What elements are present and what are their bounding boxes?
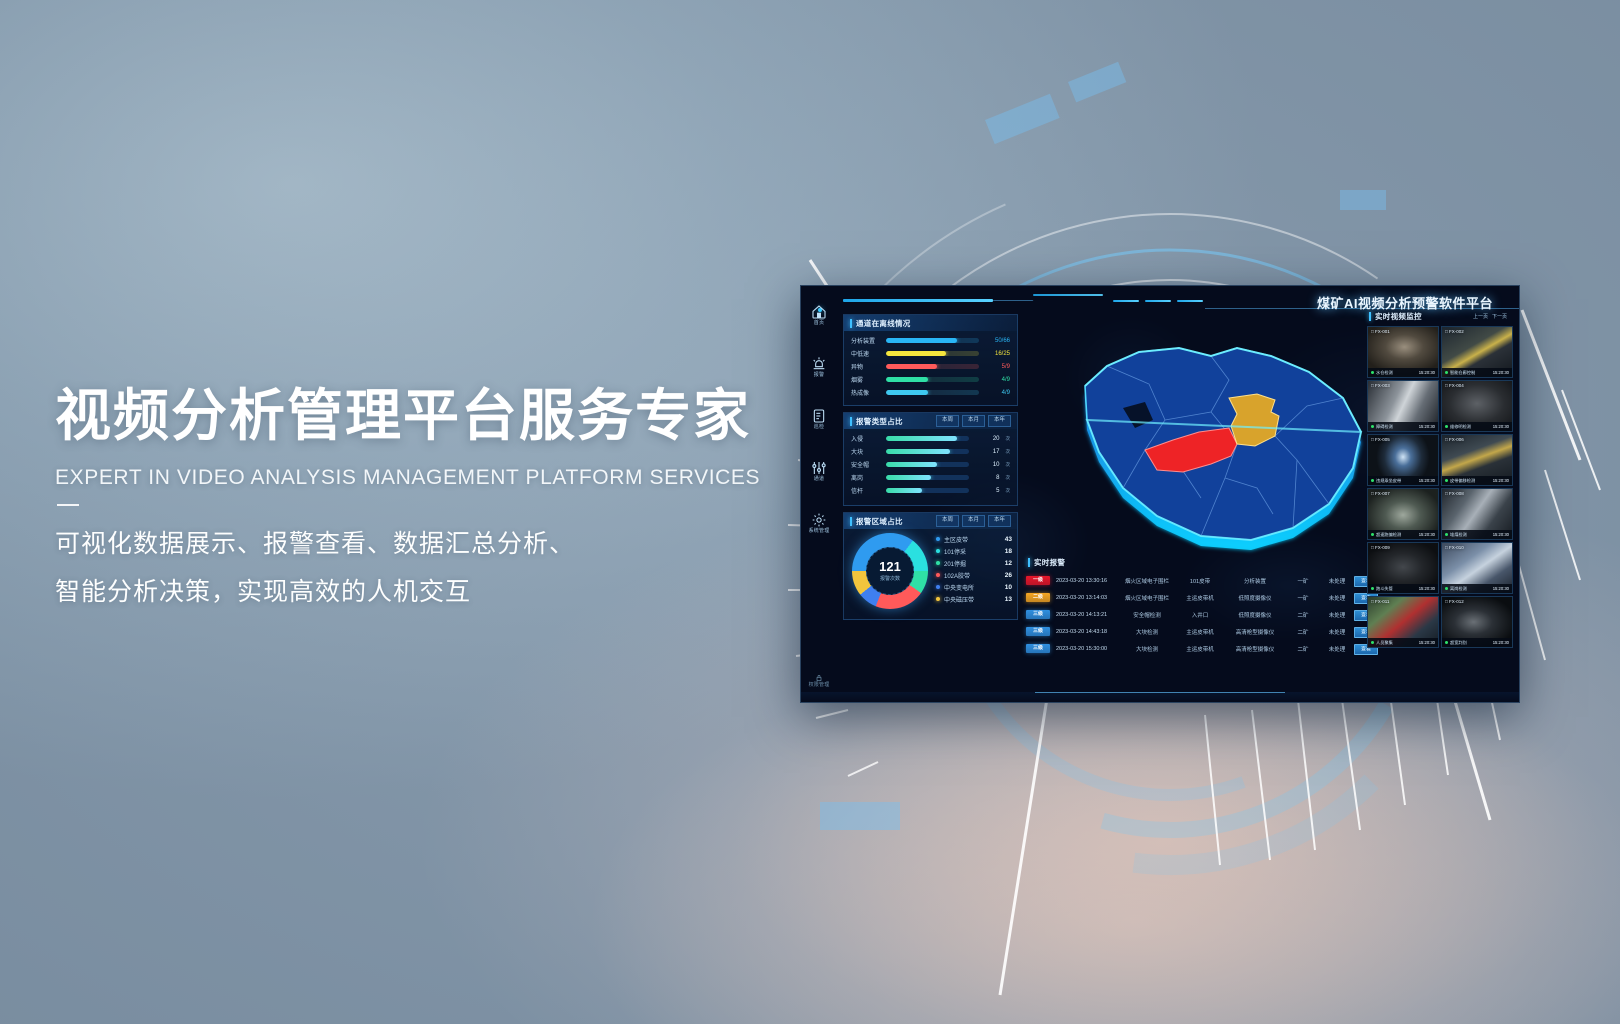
alarm-type-bar-list: 入侵20次大块17次安全帽10次离岗8次信杆5次 xyxy=(844,429,1017,497)
alarm-location: 入井口 xyxy=(1176,611,1224,619)
camera-time: 15:20:30 xyxy=(1419,532,1435,537)
donut-legend-item: 201停掘12 xyxy=(936,557,1012,569)
panel-header: 报警类型占比 本周本月本年 xyxy=(844,413,1017,429)
legend-color-dot xyxy=(936,561,940,565)
alarm-type: 烟火区域电子围栏 xyxy=(1118,577,1176,585)
video-footer: 离岗检测15:20:30 xyxy=(1442,584,1512,593)
video-footer: 皮带偏移检测15:20:30 xyxy=(1442,476,1512,485)
channel-bar-label: 热成像 xyxy=(851,388,881,397)
hero-copy: 视频分析管理平台服务专家 EXPERT IN VIDEO ANALYSIS MA… xyxy=(55,385,815,617)
accent-bar xyxy=(1369,312,1371,321)
video-footer: 人员聚集15:20:30 xyxy=(1368,638,1438,647)
alarm-type-track xyxy=(886,488,969,493)
camera-name: 障碍检测 xyxy=(1376,424,1417,430)
donut-legend: 主区皮带43101停采18201停掘12102A胶带26中央变电所10中央磁压带… xyxy=(936,533,1012,605)
channel-bar-list: 分析装置50/66中低速16/25异物5/9烟雾4/9热成像4/9 xyxy=(844,331,1017,399)
camera-name: 超速跑偏检测 xyxy=(1376,532,1417,538)
alarm-device: 高清枪型摄像仪 xyxy=(1224,628,1286,636)
alarm-type-unit: 次 xyxy=(1006,436,1011,442)
hero-description-line-2: 智能分析决策，实现高效的人机交互 xyxy=(55,568,815,617)
panel-header: 报警区域占比 本周本月本年 xyxy=(844,513,1017,529)
alarm-type-value: 17 xyxy=(974,449,1000,455)
divider xyxy=(57,504,79,506)
video-cell[interactable]: □ FX-001水仓检测15:20:30 xyxy=(1367,326,1439,378)
alarm-type-label: 大块 xyxy=(851,447,881,456)
alarm-time: 2023-03-20 14:43:18 xyxy=(1056,629,1118,635)
sidebar-item-home[interactable]: 首页 xyxy=(801,304,837,348)
inspection-icon xyxy=(811,408,827,424)
status-dot xyxy=(1445,641,1448,644)
alarm-area-tab-2[interactable]: 本年 xyxy=(988,515,1011,526)
realtime-alarms-panel: 实时报警 一级2023-03-20 13:30:16烟火区域电子围栏101皮带分… xyxy=(1026,554,1367,694)
alarm-area-tab-0[interactable]: 本周 xyxy=(936,515,959,526)
legend-value: 10 xyxy=(1005,584,1012,591)
camera-id: □ FX-007 xyxy=(1371,491,1390,496)
permission-icon xyxy=(811,674,827,682)
sidebar-item-label: 首页 xyxy=(801,321,837,326)
legend-label: 中央变电所 xyxy=(944,583,1005,592)
alarm-type-tab-2[interactable]: 本年 xyxy=(988,415,1011,426)
camera-name: 超宽判别 xyxy=(1450,640,1491,646)
donut-legend-item: 中央变电所10 xyxy=(936,581,1012,593)
alarm-type-track xyxy=(886,449,969,454)
camera-id: □ FX-011 xyxy=(1371,599,1389,604)
panel-title: 实时报警 xyxy=(1034,557,1065,568)
alarm-location: 101皮带 xyxy=(1176,577,1224,585)
channel-bar-track xyxy=(886,351,979,356)
camera-time: 15:20:30 xyxy=(1493,478,1509,483)
alarm-status: 未处理 xyxy=(1320,594,1354,602)
map-svg xyxy=(1061,328,1381,558)
alarm-type-row: 信杆5次 xyxy=(844,484,1017,497)
status-dot xyxy=(1371,641,1374,644)
alarm-type-unit: 次 xyxy=(1006,462,1011,468)
video-cell[interactable]: □ FX-011人员聚集15:20:30 xyxy=(1367,596,1439,648)
alarm-type: 大块检测 xyxy=(1118,645,1176,653)
alarm-type-tab-1[interactable]: 本月 xyxy=(962,415,985,426)
status-dot xyxy=(1371,371,1374,374)
accent-bar xyxy=(1028,558,1030,567)
channel-bar-fill xyxy=(886,364,937,369)
video-cell[interactable]: □ FX-005违规乘坐皮带15:20:30 xyxy=(1367,434,1439,486)
donut-center: 121 报警次数 xyxy=(866,547,914,595)
gear-icon xyxy=(811,512,827,528)
donut-legend-item: 中央磁压带13 xyxy=(936,593,1012,605)
donut-total-label: 报警次数 xyxy=(880,575,900,582)
period-tabs[interactable]: 本周本月本年 xyxy=(936,515,1011,526)
video-pager: 上一页 下一页 xyxy=(1473,313,1507,320)
alarm-type-panel: 报警类型占比 本周本月本年 入侵20次大块17次安全帽10次离岗8次信杆5次 xyxy=(843,412,1018,506)
alarm-device: 分析装置 xyxy=(1224,577,1286,585)
sidebar-item-inspection[interactable]: 巡检 xyxy=(801,408,837,452)
hero-subtitle: EXPERT IN VIDEO ANALYSIS MANAGEMENT PLAT… xyxy=(55,466,815,490)
video-cell[interactable]: □ FX-003障碍检测15:20:30 xyxy=(1367,380,1439,432)
table-row[interactable]: 一级2023-03-20 13:30:16烟火区域电子围栏101皮带分析装置一矿… xyxy=(1026,572,1367,589)
status-badge: 二级 xyxy=(1026,593,1050,602)
province-map[interactable] xyxy=(1061,328,1381,558)
channel-bar-fill xyxy=(886,390,928,395)
alarm-type-unit: 次 xyxy=(1006,488,1011,494)
panel-header: 通道在离线情况 xyxy=(844,315,1017,331)
dashboard: 煤矿AI视频分析预警软件平台 首页 xyxy=(801,286,1519,702)
video-footer: 水仓检测15:20:30 xyxy=(1368,368,1438,377)
status-dot xyxy=(1445,425,1448,428)
channel-bar-label: 烟雾 xyxy=(851,375,881,384)
camera-time: 15:20:30 xyxy=(1493,532,1509,537)
camera-time: 15:20:30 xyxy=(1493,640,1509,645)
channel-bar-row: 分析装置50/66 xyxy=(844,334,1017,347)
video-cell[interactable]: □ FX-004维修明检测15:20:30 xyxy=(1441,380,1513,432)
status-dot xyxy=(1445,587,1448,590)
table-row[interactable]: 三级2023-03-20 15:30:00大块检测主运皮带机高清枪型摄像仪二矿未… xyxy=(1026,640,1367,657)
legend-color-dot xyxy=(936,549,940,553)
alarm-location: 主运皮带机 xyxy=(1176,594,1224,602)
panel-header: 实时视频监控 上一页 下一页 xyxy=(1367,308,1513,324)
camera-time: 15:20:30 xyxy=(1419,586,1435,591)
video-cell[interactable]: □ FX-006皮带偏移检测15:20:30 xyxy=(1441,434,1513,486)
table-row[interactable]: 三级2023-03-20 14:13:21安全帽检测入井口低照度摄像仪二矿未处理… xyxy=(1026,606,1367,623)
channel-bar-row: 中低速16/25 xyxy=(844,347,1017,360)
channel-bar-fill xyxy=(886,377,928,382)
table-row[interactable]: 三级2023-03-20 14:43:18大块检测主运皮带机高清枪型摄像仪二矿未… xyxy=(1026,623,1367,640)
accent-bar xyxy=(850,319,852,328)
alarm-area-tab-1[interactable]: 本月 xyxy=(962,515,985,526)
legend-value: 26 xyxy=(1005,572,1012,579)
legend-value: 18 xyxy=(1005,548,1012,555)
panel-title: 报警类型占比 xyxy=(856,416,903,427)
camera-id: □ FX-005 xyxy=(1371,437,1390,442)
legend-label: 201停掘 xyxy=(944,559,1005,568)
alarm-type-row: 安全帽10次 xyxy=(844,458,1017,471)
panel-title: 报警区域占比 xyxy=(856,516,903,527)
alarm-type-row: 大块17次 xyxy=(844,445,1017,458)
monitor-chin xyxy=(801,692,1519,702)
status-badge: 三级 xyxy=(1026,644,1050,653)
camera-name: 违规乘坐皮带 xyxy=(1376,478,1417,484)
legend-value: 12 xyxy=(1005,560,1012,567)
alarm-type-unit: 次 xyxy=(1006,449,1011,455)
legend-label: 101停采 xyxy=(944,547,1005,556)
camera-name: 堆煤检测 xyxy=(1450,532,1491,538)
video-monitor-panel: 实时视频监控 上一页 下一页 □ FX-001水仓检测15:20:30□ FX-… xyxy=(1367,308,1513,696)
period-tabs[interactable]: 本周本月本年 xyxy=(936,415,1011,426)
alarm-type-track xyxy=(886,436,969,441)
alarm-location: 主运皮带机 xyxy=(1176,645,1224,653)
status-dot xyxy=(1371,425,1374,428)
channel-bar-row: 热成像4/9 xyxy=(844,386,1017,399)
camera-name: 离岗检测 xyxy=(1450,586,1491,592)
camera-time: 15:20:30 xyxy=(1493,370,1509,375)
sidebar-item-label: 系统管理 xyxy=(801,529,837,534)
legend-label: 中央磁压带 xyxy=(944,595,1005,604)
alarm-type-value: 20 xyxy=(974,436,1000,442)
video-grid: □ FX-001水仓检测15:20:30□ FX-002智能仓廊控制15:20:… xyxy=(1367,324,1513,648)
alarm-device: 低照度摄像仪 xyxy=(1224,611,1286,619)
alarm-mine: 二矿 xyxy=(1286,645,1320,653)
status-badge: 一级 xyxy=(1026,576,1050,585)
next-page-button[interactable]: 下一页 xyxy=(1492,313,1507,320)
channel-bar-value: 4/9 xyxy=(984,390,1010,396)
sidebar-item-label: 通道 xyxy=(801,477,837,482)
video-footer: 跑斗失管15:20:30 xyxy=(1368,584,1438,593)
alarm-time: 2023-03-20 13:30:16 xyxy=(1056,578,1118,584)
camera-id: □ FX-010 xyxy=(1445,545,1464,550)
alarm-type-tab-0[interactable]: 本周 xyxy=(936,415,959,426)
video-footer: 超宽判别15:20:30 xyxy=(1442,638,1512,647)
alarm-time: 2023-03-20 15:30:00 xyxy=(1056,646,1118,652)
legend-color-dot xyxy=(936,573,940,577)
sidebar-item-label: 报警 xyxy=(801,373,837,378)
alarm-time: 2023-03-20 13:14:03 xyxy=(1056,595,1118,601)
channel-bar-label: 中低速 xyxy=(851,349,881,358)
alarm-mine: 一矿 xyxy=(1286,577,1320,585)
alarm-type-unit: 次 xyxy=(1006,475,1011,481)
camera-time: 15:20:30 xyxy=(1493,586,1509,591)
alarm-type-row: 入侵20次 xyxy=(844,432,1017,445)
alarm-type-track xyxy=(886,475,969,480)
legend-label: 主区皮带 xyxy=(944,535,1005,544)
home-icon xyxy=(811,304,827,320)
channel-icon xyxy=(811,460,827,476)
monitor-screen: 煤矿AI视频分析预警软件平台 首页 xyxy=(800,285,1520,703)
alarm-type-label: 安全帽 xyxy=(851,460,881,469)
channel-bar-row: 烟雾4/9 xyxy=(844,373,1017,386)
alarm-status: 未处理 xyxy=(1320,611,1354,619)
alarm-type: 烟火区域电子围栏 xyxy=(1118,594,1176,602)
alarm-type-fill xyxy=(886,449,950,454)
alarm-type-fill xyxy=(886,436,957,441)
channel-bar-track xyxy=(886,364,979,369)
camera-name: 水仓检测 xyxy=(1376,370,1417,376)
alarm-location: 主运皮带机 xyxy=(1176,628,1224,636)
panel-header: 实时报警 xyxy=(1026,554,1367,570)
video-footer: 违规乘坐皮带15:20:30 xyxy=(1368,476,1438,485)
alarm-icon xyxy=(811,356,827,372)
channel-bar-value: 4/9 xyxy=(984,377,1010,383)
donut-legend-item: 102A胶带26 xyxy=(936,569,1012,581)
alarm-type: 安全帽检测 xyxy=(1118,611,1176,619)
channel-bar-track xyxy=(886,377,979,382)
video-footer: 堆煤检测15:20:30 xyxy=(1442,530,1512,539)
alarm-type-value: 8 xyxy=(974,475,1000,481)
video-cell[interactable]: □ FX-008堆煤检测15:20:30 xyxy=(1441,488,1513,540)
alarm-time: 2023-03-20 14:13:21 xyxy=(1056,612,1118,618)
alarm-status: 未处理 xyxy=(1320,645,1354,653)
alarm-mine: 二矿 xyxy=(1286,611,1320,619)
video-cell[interactable]: □ FX-010离岗检测15:20:30 xyxy=(1441,542,1513,594)
alarm-table: 一级2023-03-20 13:30:16烟火区域电子围栏101皮带分析装置一矿… xyxy=(1026,570,1367,657)
camera-id: □ FX-004 xyxy=(1445,383,1464,388)
accent-bar xyxy=(850,417,852,426)
alarm-type-track xyxy=(886,462,969,467)
channel-bar-label: 分析装置 xyxy=(851,336,881,345)
status-dot xyxy=(1445,533,1448,536)
panel-title: 通道在离线情况 xyxy=(856,318,911,329)
camera-time: 15:20:30 xyxy=(1419,424,1435,429)
alarm-type-fill xyxy=(886,462,937,467)
page-title: 视频分析管理平台服务专家 xyxy=(55,385,815,448)
status-dot xyxy=(1371,587,1374,590)
channel-bar-fill xyxy=(886,351,946,356)
sidebar-bottom[interactable]: 权限管理 xyxy=(801,674,837,688)
alarm-type-value: 10 xyxy=(974,462,1000,468)
donut-total-value: 121 xyxy=(879,560,901,573)
legend-color-dot xyxy=(936,585,940,589)
legend-value: 13 xyxy=(1005,596,1012,603)
sidebar-item-alarm[interactable]: 报警 xyxy=(801,356,837,400)
sidebar-item-label: 巡检 xyxy=(801,425,837,430)
alarm-type: 大块检测 xyxy=(1118,628,1176,636)
alarm-area-panel: 报警区域占比 本周本月本年 121 报警次数 主区皮带43101停采18201停… xyxy=(843,512,1018,620)
channel-bar-fill xyxy=(886,338,957,343)
camera-id: □ FX-008 xyxy=(1445,491,1464,496)
camera-id: □ FX-009 xyxy=(1371,545,1390,550)
alarm-mine: 二矿 xyxy=(1286,628,1320,636)
channel-bar-value: 50/66 xyxy=(984,338,1010,344)
camera-name: 皮带偏移检测 xyxy=(1450,478,1491,484)
video-cell[interactable]: □ FX-009跑斗失管15:20:30 xyxy=(1367,542,1439,594)
channel-bar-value: 5/9 xyxy=(984,364,1010,370)
sidebar-item-channel[interactable]: 通道 xyxy=(801,460,837,504)
channel-bar-value: 16/25 xyxy=(984,351,1010,357)
alarm-type-label: 入侵 xyxy=(851,434,881,443)
status-badge: 三级 xyxy=(1026,610,1050,619)
channel-bar-track xyxy=(886,338,979,343)
panel-title: 实时视频监控 xyxy=(1375,311,1422,322)
channel-bar-row: 异物5/9 xyxy=(844,360,1017,373)
camera-id: □ FX-012 xyxy=(1445,599,1464,604)
alarm-device: 高清枪型摄像仪 xyxy=(1224,645,1286,653)
alarm-status: 未处理 xyxy=(1320,577,1354,585)
camera-time: 15:20:30 xyxy=(1419,478,1435,483)
camera-name: 人员聚集 xyxy=(1376,640,1417,646)
donut-legend-item: 101停采18 xyxy=(936,545,1012,557)
camera-time: 15:20:30 xyxy=(1419,640,1435,645)
legend-label: 102A胶带 xyxy=(944,571,1005,580)
camera-id: □ FX-001 xyxy=(1371,329,1390,334)
camera-id: □ FX-006 xyxy=(1445,437,1464,442)
legend-color-dot xyxy=(936,597,940,601)
legend-color-dot xyxy=(936,537,940,541)
alarm-type-value: 5 xyxy=(974,488,1000,494)
video-cell[interactable]: □ FX-002智能仓廊控制15:20:30 xyxy=(1441,326,1513,378)
sidebar-item-system[interactable]: 系统管理 xyxy=(801,512,837,556)
alarm-type-row: 离岗8次 xyxy=(844,471,1017,484)
channel-status-panel: 通道在离线情况 分析装置50/66中低速16/25异物5/9烟雾4/9热成像4/… xyxy=(843,314,1018,406)
video-footer: 超速跑偏检测15:20:30 xyxy=(1368,530,1438,539)
alarm-type-fill xyxy=(886,488,922,493)
monitor-notch xyxy=(1035,692,1285,702)
channel-bar-track xyxy=(886,390,979,395)
sidebar-bottom-label: 权限管理 xyxy=(801,683,837,688)
alarm-type-fill xyxy=(886,475,931,480)
camera-name: 跑斗失管 xyxy=(1376,586,1417,592)
video-cell[interactable]: □ FX-012超宽判别15:20:30 xyxy=(1441,596,1513,648)
accent-bar xyxy=(850,517,852,526)
video-footer: 障碍检测15:20:30 xyxy=(1368,422,1438,431)
legend-value: 43 xyxy=(1005,536,1012,543)
hero-description-line-1: 可视化数据展示、报警查看、数据汇总分析、 xyxy=(55,520,815,569)
camera-time: 15:20:30 xyxy=(1493,424,1509,429)
alarm-type-label: 信杆 xyxy=(851,486,881,495)
camera-id: □ FX-002 xyxy=(1445,329,1464,334)
status-badge: 三级 xyxy=(1026,627,1050,636)
table-row[interactable]: 二级2023-03-20 13:14:03烟火区域电子围栏主运皮带机低照度摄像仪… xyxy=(1026,589,1367,606)
status-dot xyxy=(1445,371,1448,374)
video-footer: 维修明检测15:20:30 xyxy=(1442,422,1512,431)
camera-name: 智能仓廊控制 xyxy=(1450,370,1491,376)
status-dot xyxy=(1371,533,1374,536)
video-footer: 智能仓廊控制15:20:30 xyxy=(1442,368,1512,377)
camera-name: 维修明检测 xyxy=(1450,424,1491,430)
status-dot xyxy=(1371,479,1374,482)
prev-page-button[interactable]: 上一页 xyxy=(1473,313,1488,320)
status-dot xyxy=(1445,479,1448,482)
alarm-mine: 一矿 xyxy=(1286,594,1320,602)
alarm-type-label: 离岗 xyxy=(851,473,881,482)
camera-id: □ FX-003 xyxy=(1371,383,1390,388)
alarm-device: 低照度摄像仪 xyxy=(1224,594,1286,602)
video-cell[interactable]: □ FX-007超速跑偏检测15:20:30 xyxy=(1367,488,1439,540)
camera-time: 15:20:30 xyxy=(1419,370,1435,375)
alarm-status: 未处理 xyxy=(1320,628,1354,636)
channel-bar-label: 异物 xyxy=(851,362,881,371)
alarm-area-donut-chart: 121 报警次数 xyxy=(852,533,928,609)
sidebar: 首页 报警 xyxy=(801,304,837,702)
donut-legend-item: 主区皮带43 xyxy=(936,533,1012,545)
